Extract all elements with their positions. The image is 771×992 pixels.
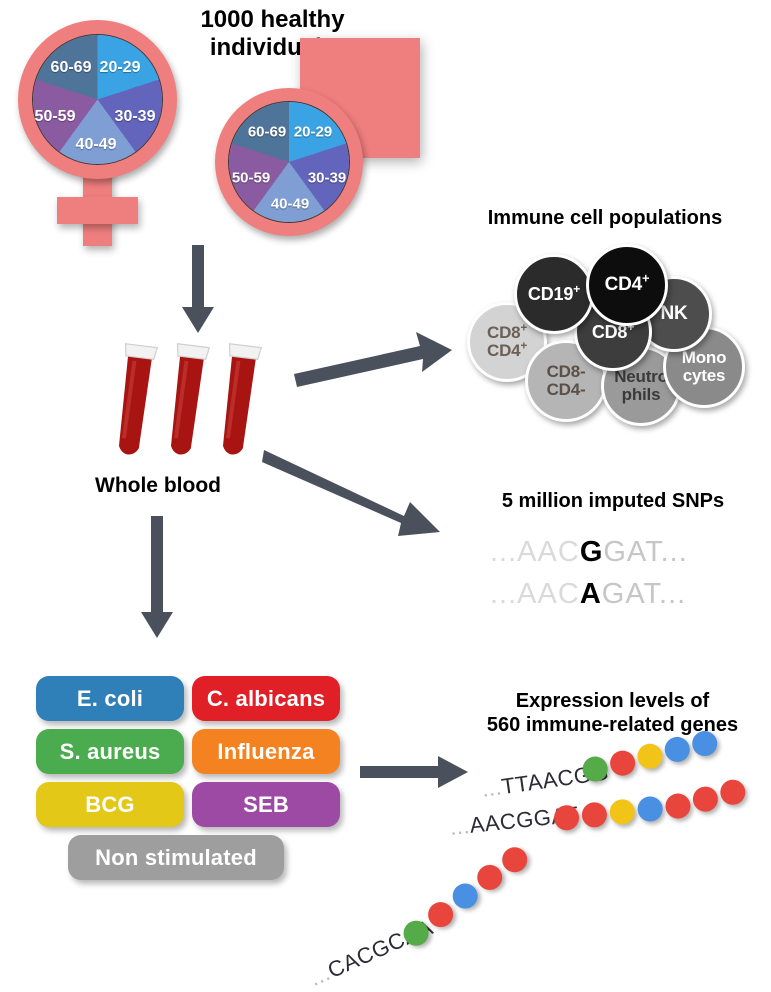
male-age-label-40-49: 40-49 xyxy=(271,196,309,213)
snp-prefix: ...AAC xyxy=(490,578,580,610)
snp-allele-row-2: ...AACAGAT... xyxy=(490,578,686,611)
cell-label: NK xyxy=(660,304,687,324)
stimulus-c-albicans[interactable]: C. albicans xyxy=(192,676,340,721)
female-age-label-60-69: 60-69 xyxy=(51,59,92,77)
stimulus-e-coli[interactable]: E. coli xyxy=(36,676,184,721)
female-symbol-crossbar xyxy=(57,197,138,224)
snp-prefix: ...AAC xyxy=(490,536,580,568)
bead-red xyxy=(473,861,506,894)
arrow-blood-to-immune xyxy=(292,330,457,390)
cell-label: Neutrophils xyxy=(614,368,668,403)
bead-red xyxy=(692,785,719,812)
stimulus-influenza[interactable]: Influenza xyxy=(192,729,340,774)
snps-heading: 5 million imputed SNPs xyxy=(468,490,758,514)
snp-sequence-block: ...AACGGAT... ...AACAGAT... xyxy=(490,536,750,616)
female-age-label-50-59: 50-59 xyxy=(35,108,76,126)
bead-blue xyxy=(636,795,663,822)
bead-red xyxy=(664,792,691,819)
figure-canvas: 1000 healthy individuals 20-29 30-39 40-… xyxy=(0,0,771,922)
male-age-label-20-29: 20-29 xyxy=(294,124,332,141)
cell-label: CD8+CD4+ xyxy=(487,324,527,359)
immune-cell-cluster: CD8+CD4+ CD8-CD4- Neutrophils Monocytes … xyxy=(455,240,755,415)
bead-red xyxy=(609,749,637,777)
snp-variant-a: A xyxy=(580,578,602,610)
bead-yellow xyxy=(636,742,664,770)
stimulus-seb[interactable]: SEB xyxy=(192,782,340,827)
arrow-stimuli-to-expression xyxy=(360,756,470,790)
immune-cell-cd4pos: CD4+ xyxy=(586,244,668,326)
bead-blue xyxy=(663,735,691,763)
immune-cell-heading: Immune cell populations xyxy=(455,207,755,231)
bead-red xyxy=(498,843,531,876)
immune-cell-cd19pos: CD19+ xyxy=(514,254,594,334)
arrow-cohort-to-blood xyxy=(178,245,218,335)
male-age-label-30-39: 30-39 xyxy=(308,170,346,187)
bead-yellow xyxy=(609,798,636,825)
whole-blood-label: Whole blood xyxy=(58,474,258,499)
male-age-label-60-69: 60-69 xyxy=(248,124,286,141)
bead-red xyxy=(581,801,608,828)
cell-label: Monocytes xyxy=(682,349,727,384)
bead-red xyxy=(719,779,746,806)
male-gender-symbol: 20-29 30-39 40-49 50-59 60-69 xyxy=(205,40,420,240)
stimuli-panel: E. coli C. albicans S. aureus Influenza … xyxy=(36,676,336,896)
bead-blue xyxy=(449,880,482,913)
female-age-label-30-39: 30-39 xyxy=(115,108,156,126)
female-age-label-40-49: 40-49 xyxy=(76,136,117,154)
snp-variant-g: G xyxy=(580,536,604,568)
female-gender-symbol: 20-29 30-39 40-49 50-59 60-69 xyxy=(10,14,190,249)
expression-heading: Expression levels of 560 immune-related … xyxy=(460,690,765,737)
stimulus-non-stimulated[interactable]: Non stimulated xyxy=(68,835,284,880)
cell-label: CD8-CD4- xyxy=(547,363,586,398)
stimulus-bcg[interactable]: BCG xyxy=(36,782,184,827)
cell-label: CD4+ xyxy=(605,275,650,295)
cell-label: CD19+ xyxy=(528,285,580,304)
snp-allele-row-1: ...AACGGAT... xyxy=(490,536,688,569)
snp-suffix: GAT... xyxy=(603,536,687,568)
whole-blood-tubes xyxy=(100,336,280,476)
female-age-label-20-29: 20-29 xyxy=(100,59,141,77)
male-age-label-50-59: 50-59 xyxy=(232,170,270,187)
arrow-blood-to-stimuli xyxy=(137,516,177,641)
stimulus-s-aureus[interactable]: S. aureus xyxy=(36,729,184,774)
expression-strands: ...TTAACGG ...AACGGAT ...CACGCAA xyxy=(465,750,771,915)
arrow-blood-to-snps xyxy=(262,444,447,544)
snp-suffix: GAT... xyxy=(602,578,686,610)
